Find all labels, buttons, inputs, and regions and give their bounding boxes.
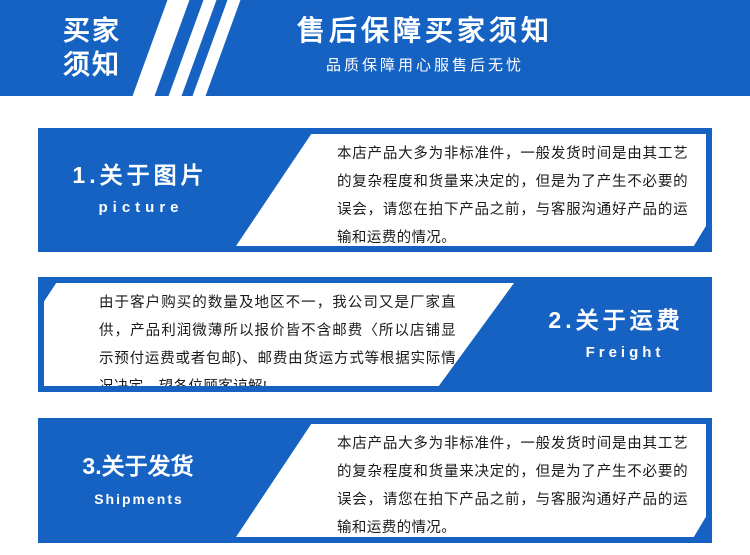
notice-section-picture: 1.关于图片 picture 本店产品大多为非标准件，一般发货时间是由其工艺的复…	[38, 128, 712, 252]
header-title-group: 售后保障买家须知 品质保障用心服售后无忧	[245, 13, 605, 76]
header-badge-label: 买家 须知	[44, 14, 140, 82]
section-label-picture: 1.关于图片 picture	[44, 128, 240, 252]
section-label-en: picture	[44, 196, 240, 220]
section-body-text: 本店产品大多为非标准件，一般发货时间是由其工艺的复杂程度和货量来决定的，但是为了…	[308, 430, 688, 542]
page-header-banner: 买家 须知 售后保障买家须知 品质保障用心服售后无忧	[0, 0, 750, 96]
section-label-cn: 3.关于发货	[44, 451, 240, 481]
section-label-shipments: 3.关于发货 Shipments	[44, 418, 240, 543]
section-label-cn: 2.关于运费	[510, 305, 706, 335]
page-title: 售后保障买家须知	[245, 13, 605, 49]
section-label-freight: 2.关于运费 Freight	[510, 277, 706, 392]
section-body-text: 本店产品大多为非标准件，一般发货时间是由其工艺的复杂程度和货量来决定的，但是为了…	[308, 140, 688, 252]
notice-section-freight: 由于客户购买的数量及地区不一，我公司又是厂家直供，产品利润微薄所以报价皆不含邮费…	[38, 277, 712, 392]
section-label-en: Shipments	[44, 487, 240, 511]
section-body-text: 由于客户购买的数量及地区不一，我公司又是厂家直供，产品利润微薄所以报价皆不含邮费…	[70, 289, 456, 401]
section-body-sheet: 本店产品大多为非标准件，一般发货时间是由其工艺的复杂程度和货量来决定的，但是为了…	[236, 424, 706, 537]
notice-section-shipments: 3.关于发货 Shipments 本店产品大多为非标准件，一般发货时间是由其工艺…	[38, 418, 712, 543]
section-body-sheet: 本店产品大多为非标准件，一般发货时间是由其工艺的复杂程度和货量来决定的，但是为了…	[236, 134, 706, 246]
section-body-sheet: 由于客户购买的数量及地区不一，我公司又是厂家直供，产品利润微薄所以报价皆不含邮费…	[44, 283, 514, 386]
section-label-en: Freight	[510, 341, 706, 365]
section-label-cn: 1.关于图片	[44, 160, 240, 190]
page-subtitle: 品质保障用心服售后无忧	[245, 56, 605, 76]
